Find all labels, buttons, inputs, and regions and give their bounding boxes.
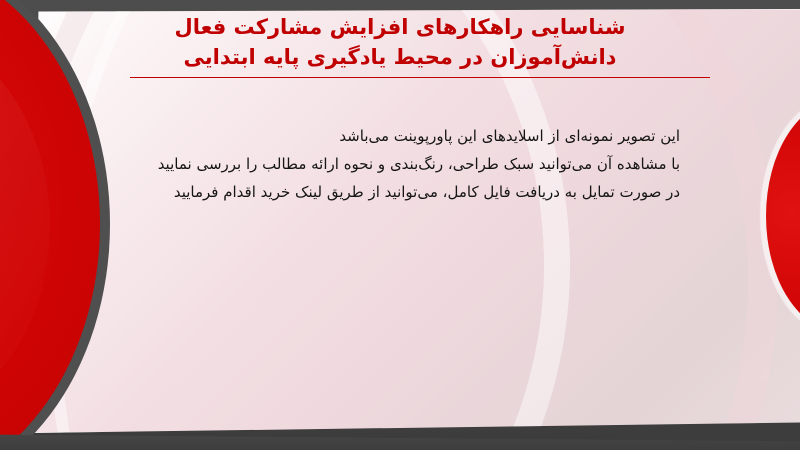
slide-canvas: شناسایی راهکارهای افزایش مشارکت فعال دان… (0, 0, 800, 450)
presentation-slide: شناسایی راهکارهای افزایش مشارکت فعال دان… (0, 0, 800, 450)
background-arc-bands (18, 9, 800, 433)
body-line-2: با مشاهده آن می‌توانید سبک طراحی، رنگ‌بن… (120, 150, 680, 178)
slide-body-text: این تصویر نمونه‌ای از اسلایدهای این پاور… (120, 122, 680, 206)
title-line-2: دانش‌آموزان در محیط یادگیری پایه ابتدایی (90, 42, 710, 72)
body-line-1: این تصویر نمونه‌ای از اسلایدهای این پاور… (120, 122, 680, 150)
slide-title: شناسایی راهکارهای افزایش مشارکت فعال دان… (90, 12, 710, 72)
title-underline-rule (130, 77, 710, 78)
body-line-3: در صورت تمایل به دریافت فایل کامل، می‌تو… (120, 178, 680, 206)
title-line-1: شناسایی راهکارهای افزایش مشارکت فعال (90, 12, 710, 42)
